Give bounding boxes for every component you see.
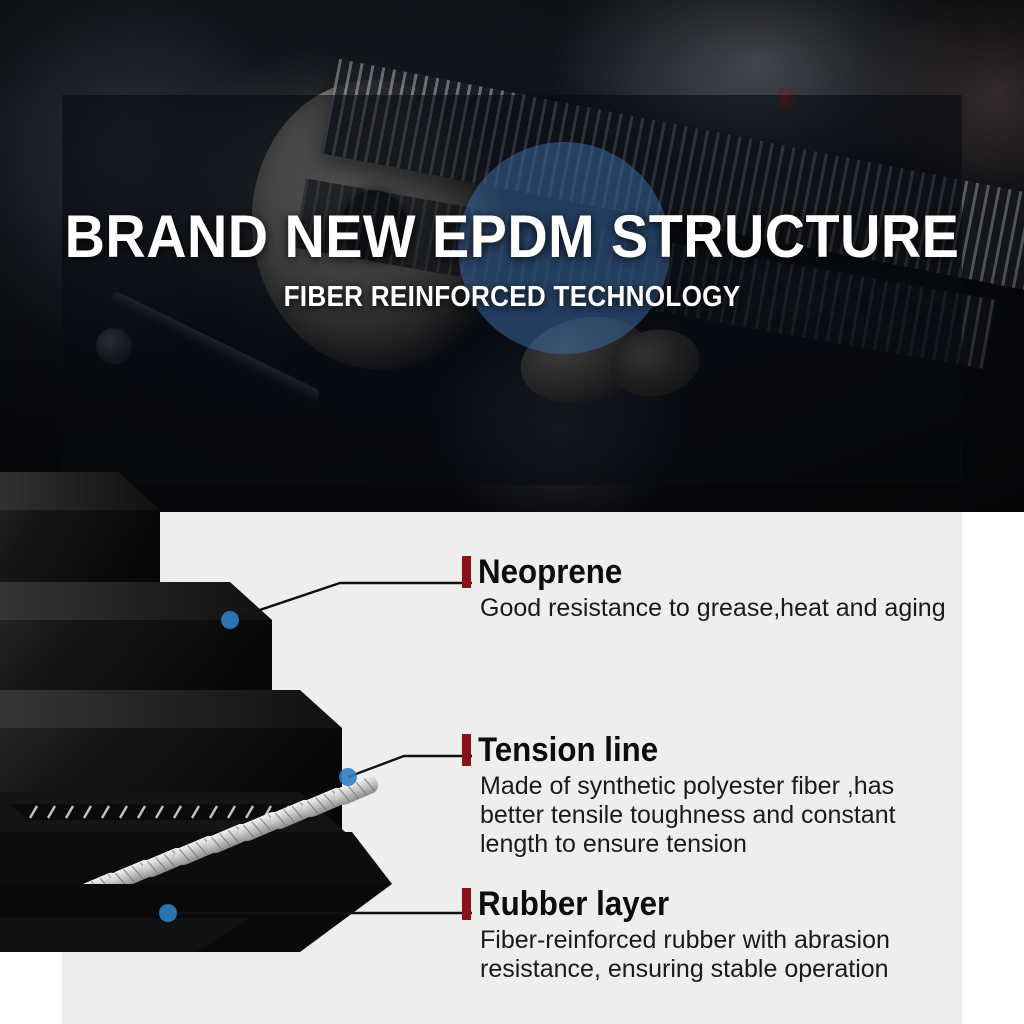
callout-neoprene-title: Neoprene xyxy=(478,554,622,590)
callout-rubber-title: Rubber layer xyxy=(478,886,669,922)
callout-rubber-head: Rubber layer xyxy=(462,884,982,924)
hero-subtitle: FIBER REINFORCED TECHNOLOGY xyxy=(51,281,973,313)
infographic-canvas: BRAND NEW EPDM STRUCTURE FIBER REINFORCE… xyxy=(0,0,1024,1024)
callout-rubber-description: Fiber-reinforced rubber with abrasion re… xyxy=(480,926,982,984)
callout-tension-line: Tension line Made of synthetic polyester… xyxy=(462,730,982,859)
callout-rubber-line-2: resistance, ensuring stable operation xyxy=(480,955,982,984)
red-bar-marker-icon xyxy=(462,734,471,766)
hero-title: BRAND NEW EPDM STRUCTURE xyxy=(36,205,988,269)
callout-neoprene-head: Neoprene xyxy=(462,552,982,592)
callout-tension-line-2: better tensile toughness and constant xyxy=(480,801,982,830)
callout-tension-line-3: length to ensure tension xyxy=(480,830,982,859)
belt-body-block xyxy=(0,773,392,952)
callout-neoprene-description: Good resistance to grease,heat and aging xyxy=(480,594,982,623)
belt-cutaway-illustration xyxy=(0,432,430,952)
callout-rubber-layer: Rubber layer Fiber-reinforced rubber wit… xyxy=(462,884,982,984)
callout-tension-head: Tension line xyxy=(462,730,982,770)
callout-tension-title: Tension line xyxy=(478,732,658,768)
callout-rubber-line-1: Fiber-reinforced rubber with abrasion xyxy=(480,926,982,955)
callout-neoprene-line-1: Good resistance to grease,heat and aging xyxy=(480,594,982,623)
belt-rib-stack xyxy=(0,472,342,836)
callout-tension-description: Made of synthetic polyester fiber ,has b… xyxy=(480,772,982,859)
callout-tension-line-1: Made of synthetic polyester fiber ,has xyxy=(480,772,982,801)
red-bar-marker-icon xyxy=(462,888,471,920)
callout-neoprene: Neoprene Good resistance to grease,heat … xyxy=(462,552,982,623)
red-bar-marker-icon xyxy=(462,556,471,588)
